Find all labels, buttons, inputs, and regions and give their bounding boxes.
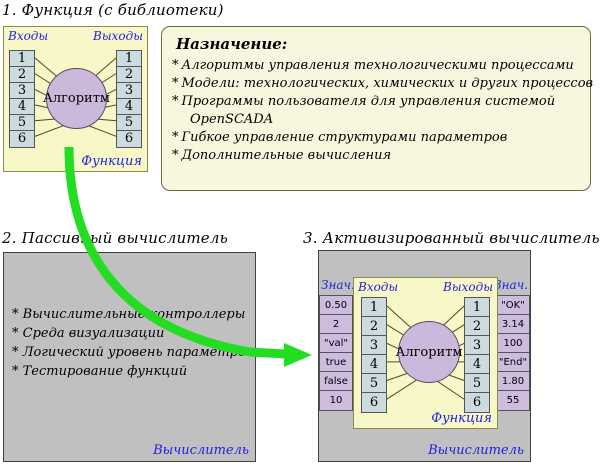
list-item-text: Среда визуализации <box>23 326 165 341</box>
function-name-label: Функция <box>431 411 492 426</box>
input-value-cell[interactable]: "val" <box>320 334 352 353</box>
passive-calculator-panel: * Вычислительные контроллеры * Среда виз… <box>3 252 256 462</box>
active-calculator-panel: Знач. Знач. 0.50 2 "val" true false 10 "… <box>318 250 531 462</box>
input-value-cell[interactable]: true <box>320 353 352 372</box>
bullet-star: * <box>12 307 19 322</box>
input-port[interactable]: 4 <box>362 355 386 374</box>
purpose-box: Назначение: *Алгоритмы управления технол… <box>161 26 591 191</box>
input-port[interactable]: 3 <box>10 83 34 99</box>
list-item: * Вычислительные контроллеры <box>12 305 253 324</box>
values-header-right: Знач. <box>494 278 528 292</box>
input-ports: 1 2 3 4 5 6 <box>361 297 387 413</box>
list-item-text: Вычислительные контроллеры <box>23 307 246 322</box>
algorithm-node[interactable]: Алгоритм <box>46 68 107 129</box>
output-value-cell[interactable]: 3.14 <box>497 315 529 334</box>
purpose-item-text: Гибкое управление структурами параметров <box>182 130 508 145</box>
input-value-cell[interactable]: false <box>320 372 352 391</box>
output-value-cell[interactable]: 100 <box>497 334 529 353</box>
list-item-text: Тестирование функций <box>23 364 187 379</box>
output-value-cell[interactable]: 55 <box>497 391 529 410</box>
output-port[interactable]: 5 <box>117 115 141 131</box>
bullet-star: * <box>12 364 19 379</box>
purpose-item-continuation: OpenSCADA <box>172 111 580 129</box>
input-port[interactable]: 3 <box>362 336 386 355</box>
output-port[interactable]: 4 <box>465 355 489 374</box>
bullet-star: * <box>172 94 179 109</box>
inputs-header: Входы <box>358 280 398 294</box>
output-value-cell[interactable]: "OK" <box>497 296 529 315</box>
output-port[interactable]: 3 <box>465 336 489 355</box>
function-name-label: Функция <box>81 154 142 169</box>
input-port[interactable]: 1 <box>362 298 386 317</box>
purpose-item: *Гибкое управление структурами параметро… <box>172 129 580 147</box>
output-values-column: "OK" 3.14 100 "End" 1.80 55 <box>496 295 530 411</box>
passive-feature-list: * Вычислительные контроллеры * Среда виз… <box>12 305 253 381</box>
input-port[interactable]: 6 <box>10 131 34 147</box>
purpose-item: *Дополнительные вычисления <box>172 147 580 165</box>
purpose-item-text: Дополнительные вычисления <box>182 148 392 163</box>
bullet-star: * <box>12 326 19 341</box>
input-port[interactable]: 4 <box>10 99 34 115</box>
output-port[interactable]: 2 <box>117 67 141 83</box>
values-header-left: Знач. <box>321 278 355 292</box>
outputs-header: Выходы <box>93 29 143 43</box>
purpose-item-text: Алгоритмы управления технологическими пр… <box>182 58 574 73</box>
output-port[interactable]: 2 <box>465 317 489 336</box>
input-port[interactable]: 1 <box>10 51 34 67</box>
panel-name-label: Вычислитель <box>153 443 249 458</box>
algorithm-node[interactable]: Алгоритм <box>398 321 460 383</box>
output-port[interactable]: 3 <box>117 83 141 99</box>
output-value-cell[interactable]: 1.80 <box>497 372 529 391</box>
inputs-header: Входы <box>8 29 48 43</box>
input-ports: 1 2 3 4 5 6 <box>9 50 35 148</box>
purpose-item-text: Программы пользователя для управления си… <box>182 94 556 109</box>
input-values-column: 0.50 2 "val" true false 10 <box>319 295 353 411</box>
diagram-canvas: 1. Функция (с библиотеки) Входы Выходы 1 <box>0 0 600 468</box>
output-port[interactable]: 1 <box>117 51 141 67</box>
purpose-title: Назначение: <box>176 35 580 53</box>
list-item-text: Логический уровень параметров <box>23 345 254 360</box>
bullet-star: * <box>172 76 179 91</box>
input-port[interactable]: 2 <box>10 67 34 83</box>
list-item: * Среда визуализации <box>12 324 253 343</box>
section-3-caption: 3. Активизированный вычислитель <box>303 229 600 247</box>
purpose-list: *Алгоритмы управления технологическими п… <box>172 57 580 165</box>
list-item: * Логический уровень параметров <box>12 343 253 362</box>
input-value-cell[interactable]: 0.50 <box>320 296 352 315</box>
input-port[interactable]: 5 <box>10 115 34 131</box>
panel-name-label: Вычислитель <box>428 443 524 458</box>
bullet-star: * <box>172 148 179 163</box>
function-block-active: Входы Выходы <box>353 277 498 429</box>
input-port[interactable]: 5 <box>362 374 386 393</box>
purpose-item: *Алгоритмы управления технологическими п… <box>172 57 580 75</box>
section-2-caption: 2. Пассивный вычислитель <box>2 229 228 247</box>
section-1-caption: 1. Функция (с библиотеки) <box>2 1 224 19</box>
input-value-cell[interactable]: 10 <box>320 391 352 410</box>
function-block-library: Входы Выходы 1 2 3 4 5 <box>3 26 148 172</box>
output-value-cell[interactable]: "End" <box>497 353 529 372</box>
purpose-item-text: Модели: технологических, химических и др… <box>182 76 594 91</box>
input-port[interactable]: 2 <box>362 317 386 336</box>
output-port[interactable]: 5 <box>465 374 489 393</box>
outputs-header: Выходы <box>443 280 493 294</box>
bullet-star: * <box>172 130 179 145</box>
purpose-item: *Модели: технологических, химических и д… <box>172 75 580 93</box>
purpose-item: *Программы пользователя для управления с… <box>172 93 580 111</box>
list-item: * Тестирование функций <box>12 362 253 381</box>
output-ports: 1 2 3 4 5 6 <box>116 50 142 148</box>
output-port[interactable]: 6 <box>117 131 141 147</box>
bullet-star: * <box>12 345 19 360</box>
output-port[interactable]: 4 <box>117 99 141 115</box>
input-value-cell[interactable]: 2 <box>320 315 352 334</box>
output-port[interactable]: 6 <box>465 393 489 412</box>
bullet-star: * <box>172 58 179 73</box>
output-port[interactable]: 1 <box>465 298 489 317</box>
input-port[interactable]: 6 <box>362 393 386 412</box>
output-ports: 1 2 3 4 5 6 <box>464 297 490 413</box>
